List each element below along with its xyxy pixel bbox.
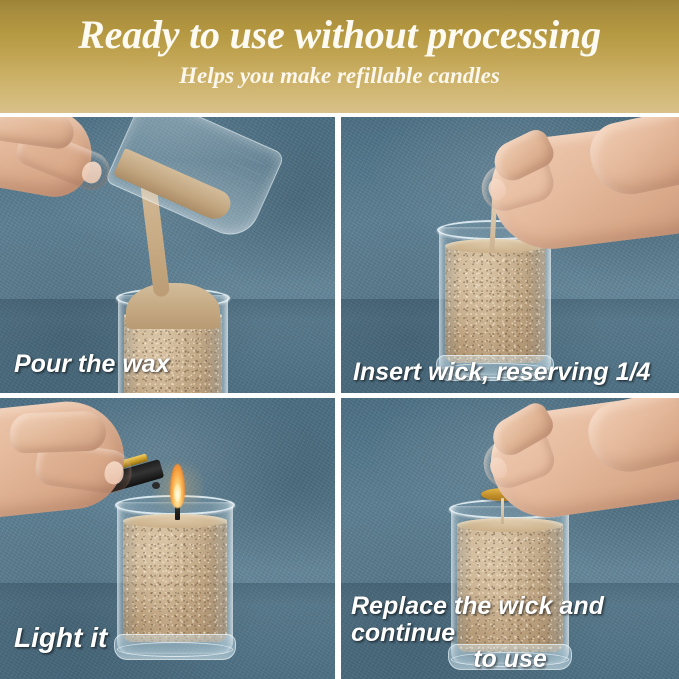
panel-caption-line-2: to use: [351, 646, 669, 672]
panel-caption-line-1: Replace the wick and continue: [351, 593, 669, 646]
thumb: [9, 410, 106, 453]
panel-caption: Pour the wax: [14, 351, 170, 377]
step-panel-light-it: Light it: [0, 398, 335, 679]
jar-base-ellipse: [117, 642, 233, 657]
wax-mound: [126, 283, 220, 329]
fingernail: [486, 177, 508, 202]
fingernail: [103, 460, 125, 485]
lighter-nozzle: [152, 482, 160, 489]
fingernail: [487, 455, 509, 480]
header-banner: Ready to use without processing Helps yo…: [0, 0, 679, 113]
jar-base: [114, 634, 236, 660]
flame-core: [174, 484, 181, 502]
banner-title: Ready to use without processing: [0, 12, 679, 58]
step-panel-insert-wick: Insert wick, reserving 1/4: [341, 117, 679, 393]
panel-caption: Replace the wick and continue to use: [351, 593, 669, 672]
glass-jar: [439, 227, 551, 375]
step-panel-replace-wick: Replace the wick and continue to use: [341, 398, 679, 679]
step-panel-pour-the-wax: Pour the wax: [0, 117, 335, 393]
fingernail: [79, 159, 105, 187]
panel-caption: Insert wick, reserving 1/4: [353, 359, 650, 385]
banner-subtitle: Helps you make refillable candles: [0, 62, 679, 90]
wick-thread: [501, 498, 504, 524]
jar-glass: [439, 227, 551, 375]
jar-glass: [117, 502, 233, 654]
step-panel-grid: Pour the wax: [0, 117, 679, 679]
glass-jar: [117, 502, 233, 654]
product-infographic: Ready to use without processing Helps yo…: [0, 0, 679, 679]
panel-caption: Light it: [14, 623, 107, 652]
